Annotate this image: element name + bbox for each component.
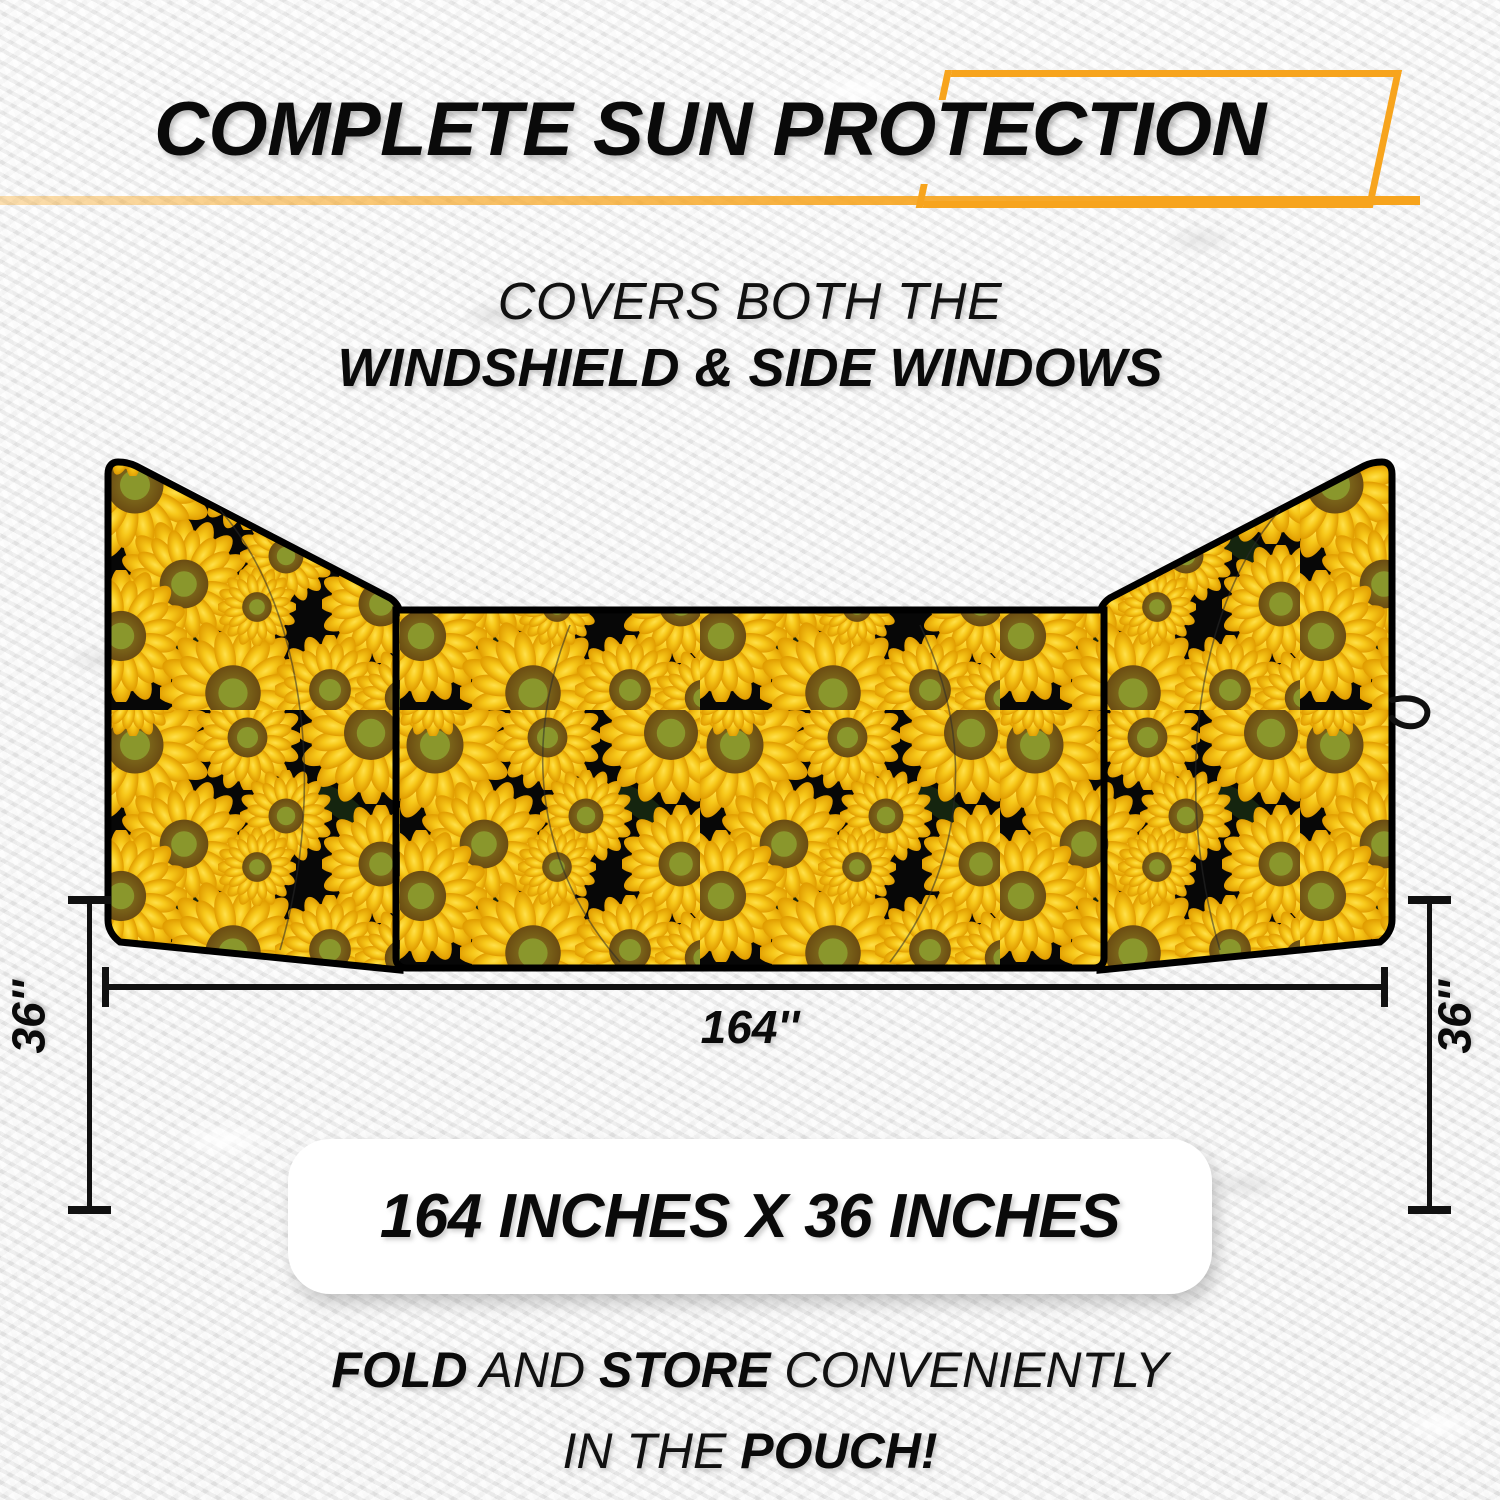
sunshade-right-wing [1100,462,1392,970]
dimension-label-width: 164'' [0,1000,1500,1054]
infographic-page: COMPLETE SUN PROTECTION COVERS BOTH THE … [0,0,1500,1500]
orange-underline-rule [0,196,1420,205]
footer-line-2-run-1: POUCH! [740,1423,937,1479]
sunshade-left-wing [108,462,400,970]
dim-cap-bottom [1408,1206,1451,1214]
subtitle-block: COVERS BOTH THE WINDSHIELD & SIDE WINDOW… [0,270,1500,402]
elastic-loop-icon [1392,698,1427,726]
sunshade-product-image [100,450,1400,995]
footer-caption: FOLD AND STORE CONVENIENTLY IN THE POUCH… [0,1336,1500,1498]
product-illustration-area: 36'' 36'' [0,430,1500,1010]
footer-line-1-run-2: STORE [599,1342,770,1398]
footer-line-1-run-1: AND [467,1342,599,1398]
header-band: COMPLETE SUN PROTECTION [0,0,1500,240]
dimension-line-height-right [1398,890,1458,1220]
page-title: COMPLETE SUN PROTECTION [0,86,1420,173]
sunshade-center-panel [396,610,1104,968]
footer-line-2: IN THE POUCH! [0,1417,1500,1498]
dimension-line-height-left [58,890,118,1220]
footer-line-1: FOLD AND STORE CONVENIENTLY [0,1336,1500,1417]
dim-bar [87,900,92,1210]
dim-bar [1427,900,1432,1210]
footer-line-1-run-0: FOLD [331,1342,467,1398]
subtitle-line-1: COVERS BOTH THE [0,270,1500,334]
size-badge-text: 164 INCHES X 36 INCHES [380,1181,1120,1252]
dim-cap-bottom [68,1206,111,1214]
size-badge: 164 INCHES X 36 INCHES [288,1139,1212,1294]
subtitle-line-2: WINDSHIELD & SIDE WINDOWS [0,334,1500,402]
footer-line-1-run-3: CONVENIENTLY [770,1342,1168,1398]
sunshade-shape-svg [100,450,1400,995]
footer-line-2-run-0: IN THE [562,1423,740,1479]
dim-bar [106,984,1384,990]
